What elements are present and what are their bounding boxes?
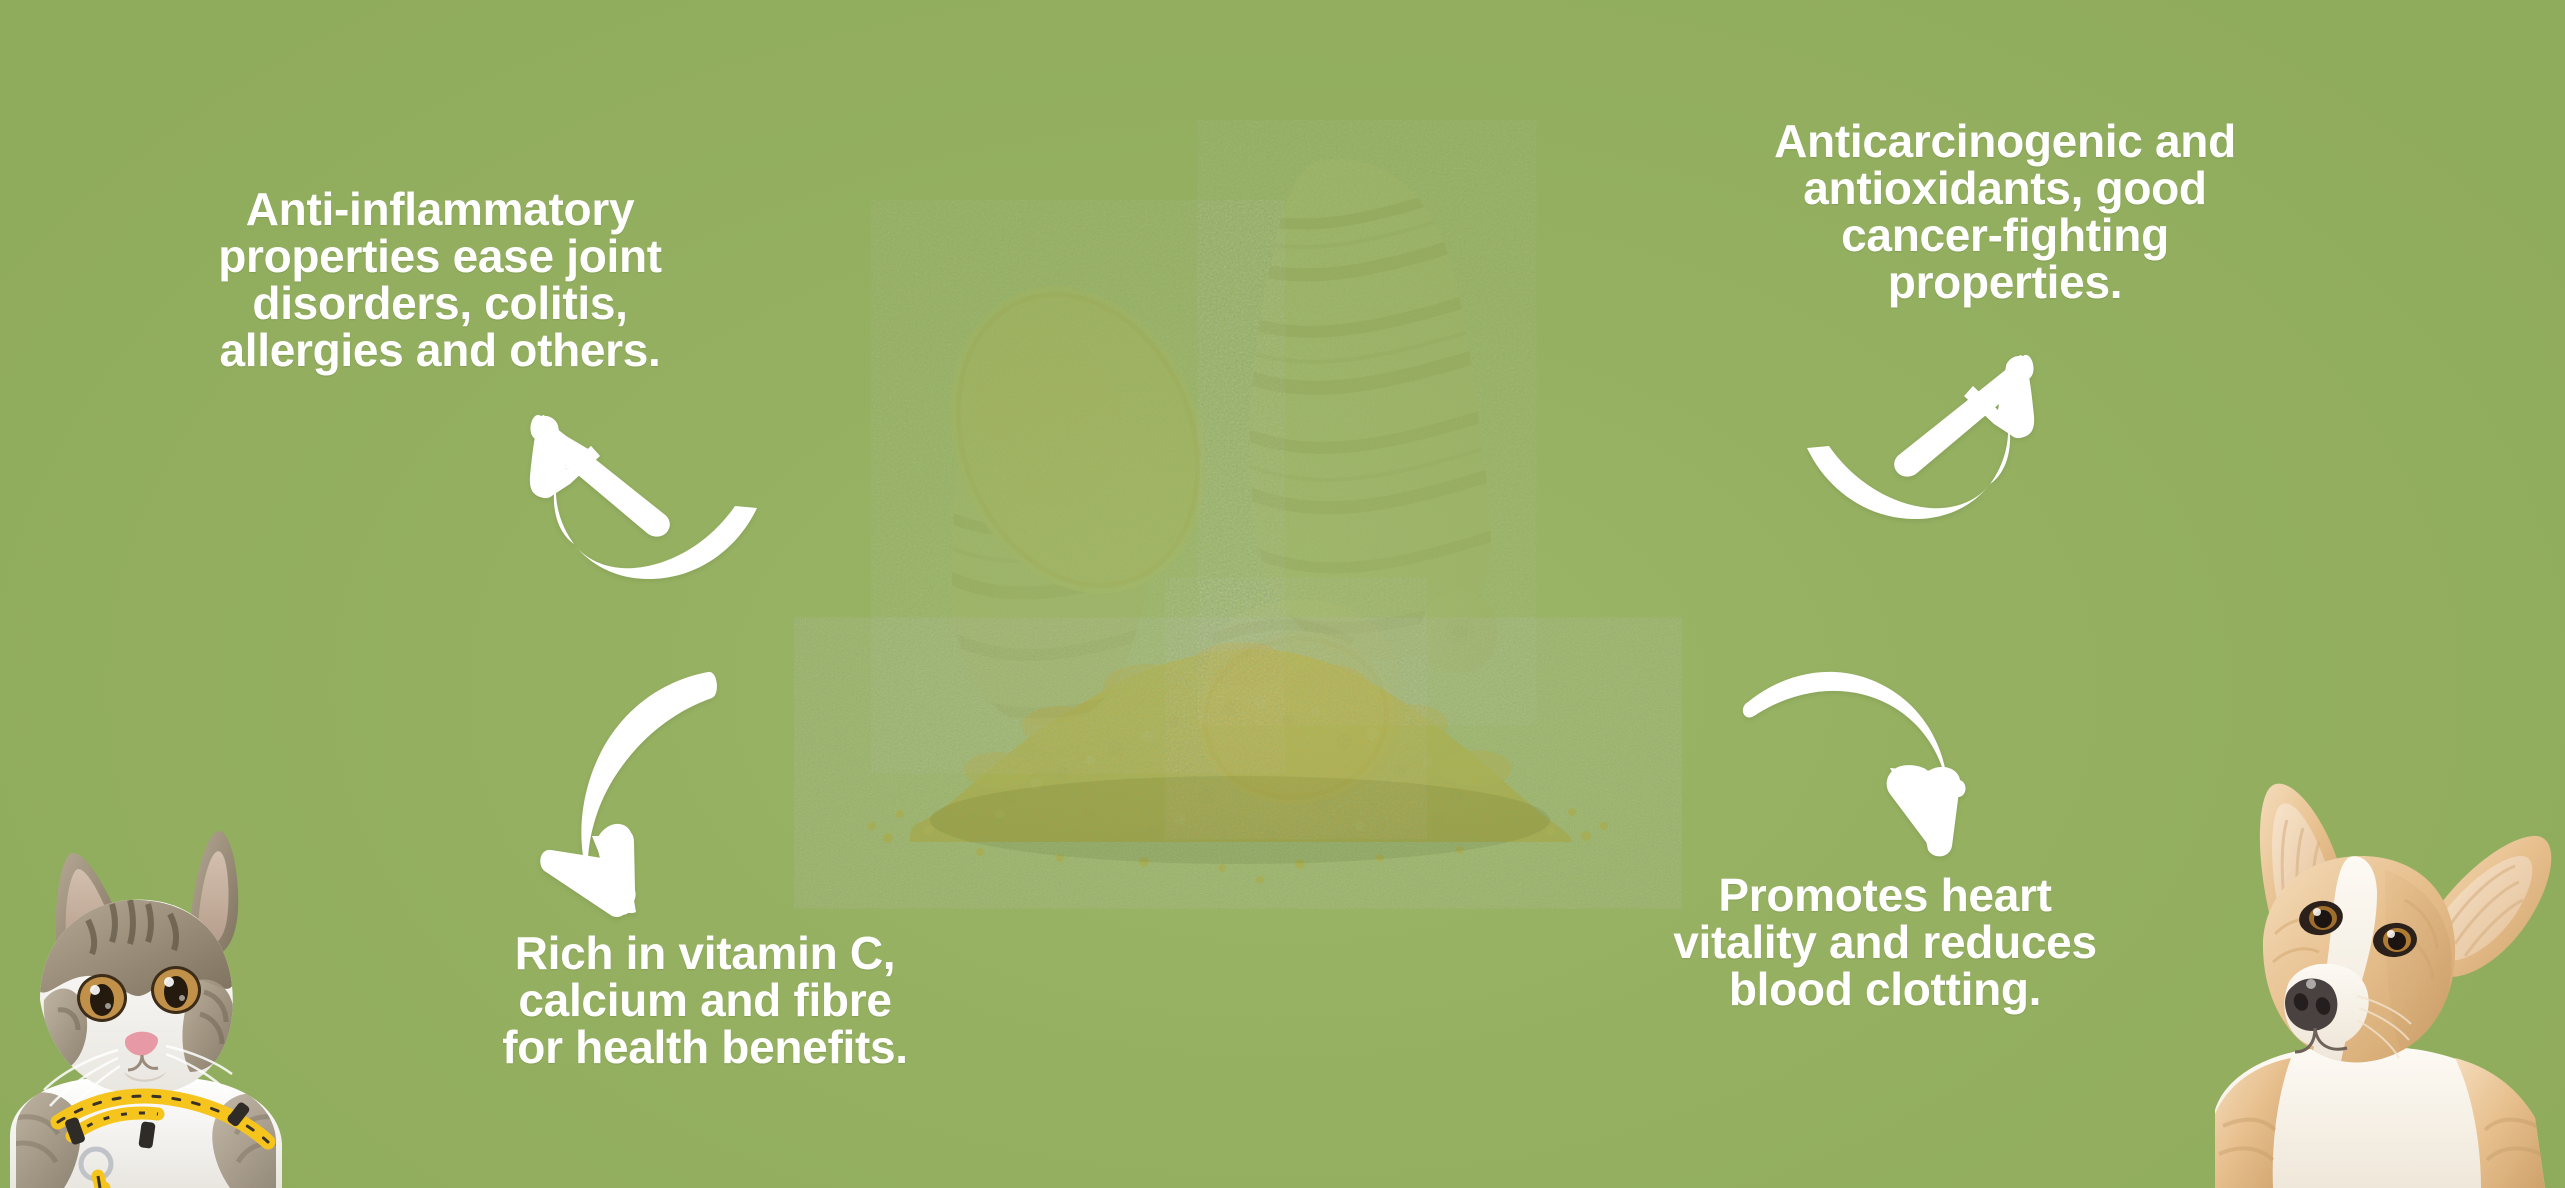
curved-arrow-up-right-icon — [1768, 336, 2068, 556]
dog-photo — [2215, 770, 2565, 1188]
callout-heart-health: Promotes heart vitality and reduces bloo… — [1650, 872, 2120, 1013]
callout-vitamins: Rich in vitamin C, calcium and fibre for… — [460, 930, 950, 1071]
callout-anticarcinogenic: Anticarcinogenic and antioxidants, good … — [1735, 118, 2275, 306]
cat-photo — [0, 800, 310, 1188]
curved-arrow-down-right-icon — [1730, 650, 1970, 870]
curved-arrow-up-left-icon — [496, 396, 796, 616]
infographic-canvas: Anti-inflammatory properties ease joint … — [0, 0, 2565, 1188]
curved-arrow-down-left-icon — [530, 650, 750, 930]
turmeric-root-and-powder-image — [760, 120, 1720, 920]
callout-anti-inflammatory: Anti-inflammatory properties ease joint … — [180, 186, 700, 374]
